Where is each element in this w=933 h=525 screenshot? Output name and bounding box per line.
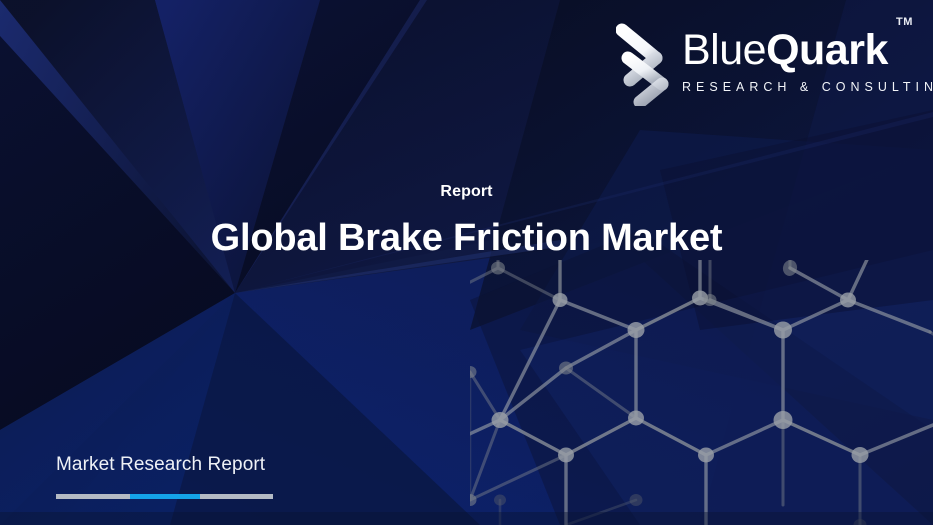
brand-wordmark: BlueQuark <box>682 29 888 72</box>
footer-rule-segment-right <box>200 494 273 499</box>
title-block: Report Global Brake Friction Market <box>0 182 933 261</box>
report-kicker: Report <box>0 182 933 201</box>
footer-rule-segment-left <box>56 494 130 499</box>
footer-rule-segment-accent <box>130 494 200 499</box>
brand-wordmark-quark: Quark <box>766 26 888 74</box>
page-title: Global Brake Friction Market <box>0 217 933 261</box>
footer-label: Market Research Report <box>56 454 386 477</box>
footer-block: Market Research Report <box>56 454 386 499</box>
brand-logo: BlueQuark RESEARCH & CONSULTING TM <box>616 14 916 106</box>
trademark-symbol: TM <box>896 16 913 28</box>
footer-rule <box>56 494 273 499</box>
brand-tagline: RESEARCH & CONSULTING <box>682 80 933 94</box>
report-cover-page: BlueQuark RESEARCH & CONSULTING TM Repor… <box>0 0 933 525</box>
bluequark-chevron-logo-icon <box>616 18 678 106</box>
brand-wordmark-blue: Blue <box>682 26 766 74</box>
